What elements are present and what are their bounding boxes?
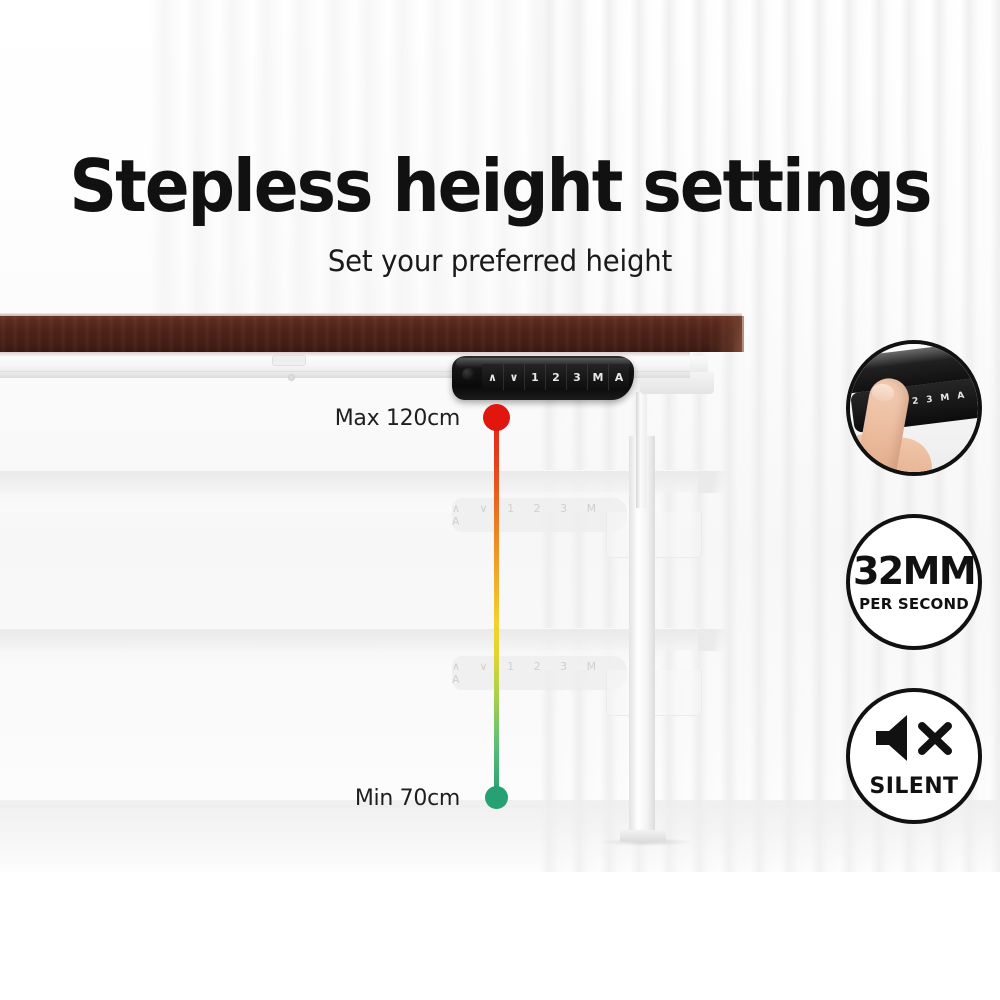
keypad-key-row: ∧ ∨ 1 2 3 M A: [482, 364, 629, 390]
key-preset-3[interactable]: 3: [566, 364, 587, 390]
desktop-surface: [0, 316, 742, 352]
badge-speed: 32MM PER SECOND: [846, 514, 982, 650]
control-panel-keypad[interactable]: ∧ ∨ 1 2 3 M A: [452, 356, 634, 400]
headline-block: Stepless height settings Set your prefer…: [0, 150, 1000, 278]
max-height-marker-dot: [483, 404, 510, 431]
badge-speed-value: 32MM: [853, 552, 975, 590]
page-subtitle: Set your preferred height: [25, 244, 975, 278]
min-height-label: Min 70cm: [210, 786, 460, 811]
badge-photo-key-m: M: [940, 393, 950, 404]
badge-speed-unit: PER SECOND: [859, 595, 969, 613]
feature-badge-list: 2 3 M A 32MM PER SECOND: [846, 340, 982, 824]
product-feature-image: Stepless height settings Set your prefer…: [0, 0, 1000, 1000]
ghost-keypad-mid: ∧ ∨ 1 2 3 M A: [452, 498, 627, 532]
badge-photo-key-3: 3: [926, 395, 933, 406]
muted-speaker-icon: [872, 713, 956, 768]
key-preset-2[interactable]: 2: [545, 364, 566, 390]
bottom-white-band: [0, 872, 1000, 1000]
page-title: Stepless height settings: [40, 150, 960, 222]
apron-screw: [288, 374, 295, 381]
leg-foot: [620, 830, 666, 842]
desktop-right-bevel: [700, 316, 744, 352]
height-gradient-line: [494, 414, 499, 796]
badge-silent-label: SILENT: [870, 774, 959, 799]
ghost-keypad-low: ∧ ∨ 1 2 3 M A: [452, 656, 627, 690]
badge-photo-key-2: 2: [912, 396, 919, 407]
key-down[interactable]: ∨: [503, 364, 524, 390]
apron-cable-tab: [272, 355, 306, 366]
leg-column-upper: [636, 392, 647, 508]
badge-silent: SILENT: [846, 688, 982, 824]
badge-photo-key-a: A: [957, 391, 965, 402]
key-auto[interactable]: A: [608, 364, 629, 390]
keypad-knob: [462, 368, 475, 381]
min-height-marker-dot: [485, 786, 508, 809]
key-memory[interactable]: M: [587, 364, 608, 390]
max-height-label: Max 120cm: [200, 406, 460, 431]
badge-finger-press: 2 3 M A: [846, 340, 982, 476]
key-preset-1[interactable]: 1: [524, 364, 545, 390]
key-up[interactable]: ∧: [482, 364, 503, 390]
